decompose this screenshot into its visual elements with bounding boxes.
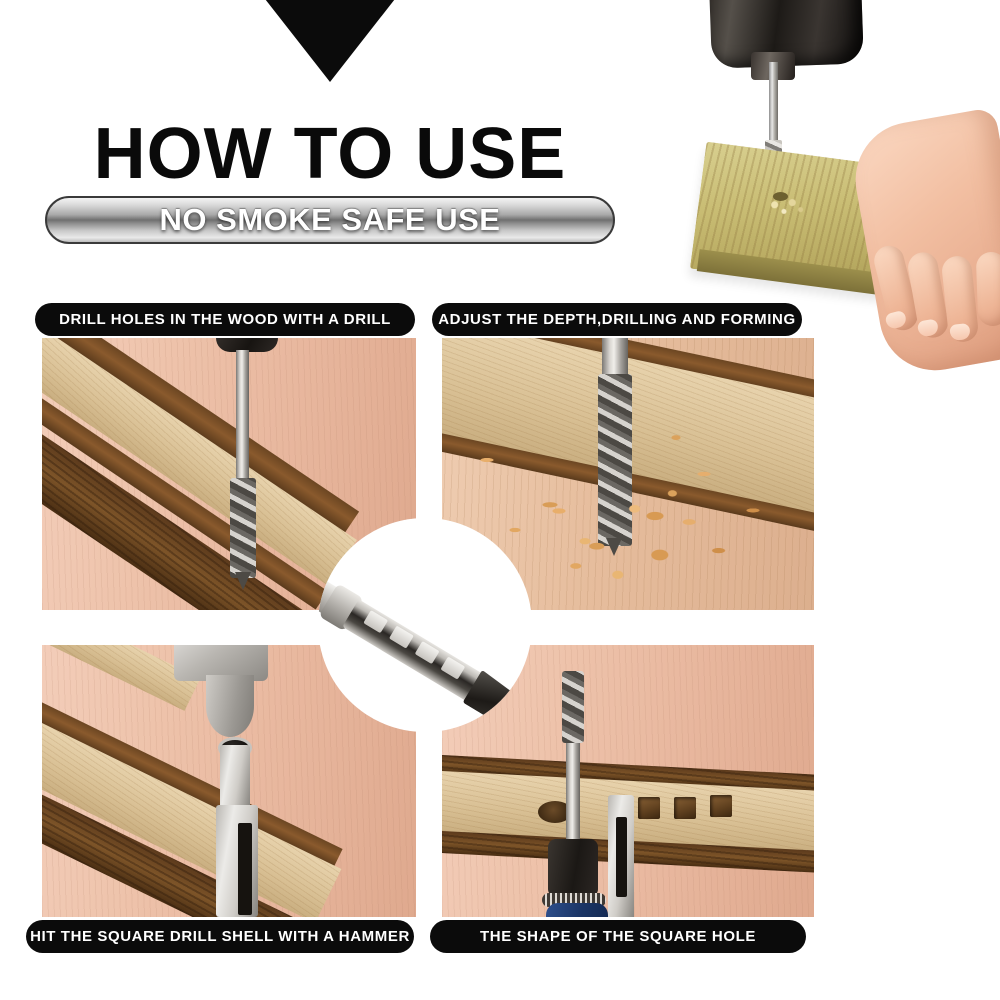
subtitle-text: NO SMOKE SAFE USE: [160, 202, 501, 238]
hammer-neck-shape: [206, 675, 254, 737]
chisel-slot-shape: [238, 823, 252, 915]
square-hole-shape: [674, 797, 696, 819]
wood-shavings-shape: [538, 478, 748, 588]
drill-chuck-shape: [548, 839, 598, 897]
square-hole-shape: [710, 795, 732, 817]
step-1-label: DRILL HOLES IN THE WOOD WITH A DRILL: [35, 303, 415, 336]
bit-shank-shape: [566, 739, 580, 843]
finger-shape: [976, 251, 1000, 326]
step-1-label-text: DRILL HOLES IN THE WOOD WITH A DRILL: [59, 311, 391, 328]
square-chisel-shape: [220, 745, 250, 809]
square-hole-shape: [638, 797, 660, 819]
step-2-label: ADJUST THE DEPTH,DRILLING AND FORMING: [432, 303, 802, 336]
bit-shank-shape: [236, 350, 249, 482]
auger-flute-shape: [562, 671, 584, 743]
subtitle-banner: NO SMOKE SAFE USE: [45, 196, 615, 244]
step-4-label-text: THE SHAPE OF THE SQUARE HOLE: [480, 928, 756, 945]
hand-shape: [846, 107, 1000, 379]
chisel-slot-shape: [616, 817, 627, 897]
step-4-label: THE SHAPE OF THE SQUARE HOLE: [430, 920, 806, 953]
auger-flute-shape: [230, 478, 256, 578]
infographic-canvas: HOW TO USE NO SMOKE SAFE USE DRILL HOLES…: [0, 0, 1000, 1000]
auger-tip-shape: [235, 572, 251, 590]
center-badge-circle: [318, 518, 532, 732]
blue-drill-body-shape: [546, 903, 608, 917]
down-arrow-icon: [258, 0, 402, 82]
wood-chips-shape: [759, 196, 811, 218]
step-2-label-text: ADJUST THE DEPTH,DRILLING AND FORMING: [438, 311, 795, 328]
step-3-label-text: HIT THE SQUARE DRILL SHELL WITH A HAMMER: [30, 928, 410, 945]
step-3-label: HIT THE SQUARE DRILL SHELL WITH A HAMMER: [26, 920, 414, 953]
page-title: HOW TO USE: [0, 118, 660, 190]
